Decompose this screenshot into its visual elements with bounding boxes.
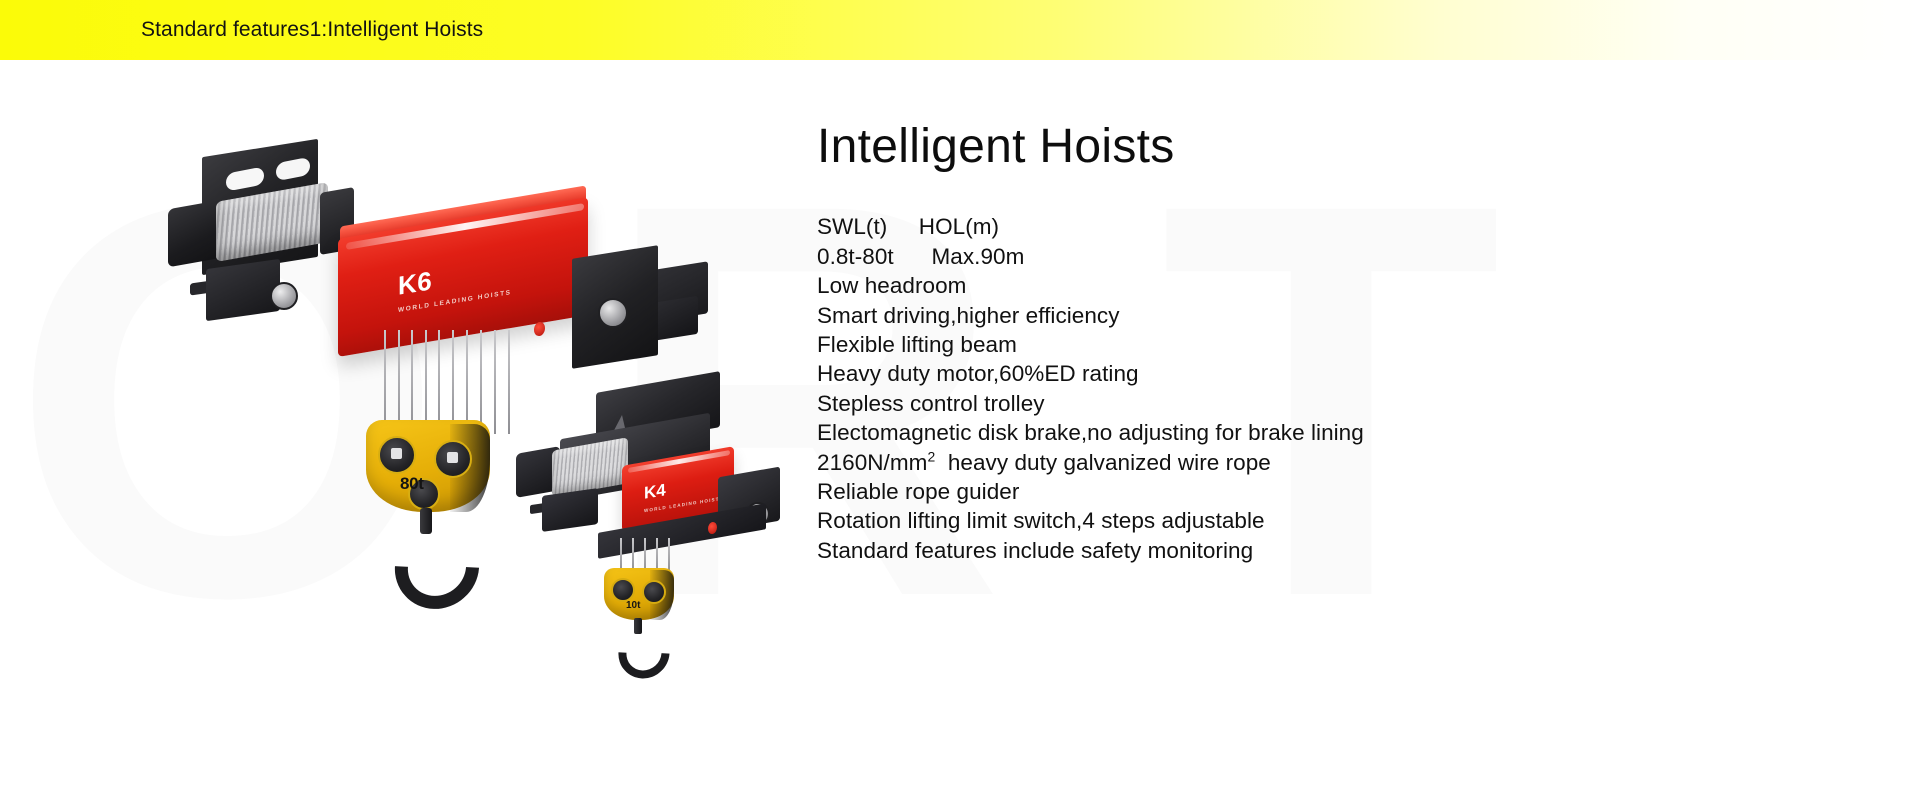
k4-capacity-label: 10t <box>626 600 640 611</box>
wire-rope-suffix: heavy duty galvanized wire rope <box>935 450 1271 475</box>
k4-lifting-hook <box>608 617 680 689</box>
banner-title: Standard features1:Intelligent Hoists <box>141 18 483 42</box>
k6-sheave-center <box>391 448 402 459</box>
product-info-panel: Intelligent Hoists SWL(t) HOL(m) 0.8t-80… <box>817 122 1857 565</box>
spec-item-headers: SWL(t) HOL(m) <box>817 212 1857 241</box>
spec-item-headroom: Low headroom <box>817 271 1857 300</box>
spec-item-motor: Heavy duty motor,60%ED rating <box>817 359 1857 388</box>
header-banner: Standard features1:Intelligent Hoists <box>0 0 1920 60</box>
k6-lifting-hook <box>378 508 497 626</box>
k4-model-label: K4 <box>644 480 666 503</box>
k6-capacity-label: 80t <box>400 474 424 494</box>
k6-trolley-wheel-left <box>270 282 298 310</box>
page-title: Intelligent Hoists <box>817 122 1857 172</box>
spec-item-safety-monitor: Standard features include safety monitor… <box>817 536 1857 565</box>
k4-gearbox <box>542 488 598 532</box>
spec-item-capacity: 0.8t-80t Max.90m <box>817 242 1857 271</box>
wire-rope-prefix: 2160N/mm <box>817 450 927 475</box>
spec-item-wire-rope: 2160N/mm2 heavy duty galvanized wire rop… <box>817 448 1857 477</box>
slide-body: K6 WORLD LEADING HOISTS 80t <box>0 60 1920 800</box>
k6-trolley-wheel-right <box>598 298 628 328</box>
k6-sheave-center <box>447 452 458 463</box>
k6-sheave <box>378 436 416 474</box>
spec-item-smart-driving: Smart driving,higher efficiency <box>817 301 1857 330</box>
k4-sheave <box>611 578 635 602</box>
k6-sheave <box>434 440 472 478</box>
k6-gearbox <box>206 259 280 321</box>
k4-hook-block: 10t <box>604 568 674 628</box>
k4-sheave <box>642 580 666 604</box>
spec-item-trolley: Stepless control trolley <box>817 389 1857 418</box>
k6-indicator-dot <box>534 321 545 337</box>
spec-item-disk-brake: Electomagnetic disk brake,no adjusting f… <box>817 418 1857 447</box>
specification-list: SWL(t) HOL(m) 0.8t-80t Max.90m Low headr… <box>817 212 1857 565</box>
spec-item-limit-switch: Rotation lifting limit switch,4 steps ad… <box>817 506 1857 535</box>
product-image-k4: K4 WORLD LEADING HOISTS 10t <box>500 360 810 650</box>
k6-hook-block: 80t <box>366 420 490 522</box>
spec-item-lifting-beam: Flexible lifting beam <box>817 330 1857 359</box>
spec-item-rope-guider: Reliable rope guider <box>817 477 1857 506</box>
k6-model-label: K6 <box>398 265 432 301</box>
